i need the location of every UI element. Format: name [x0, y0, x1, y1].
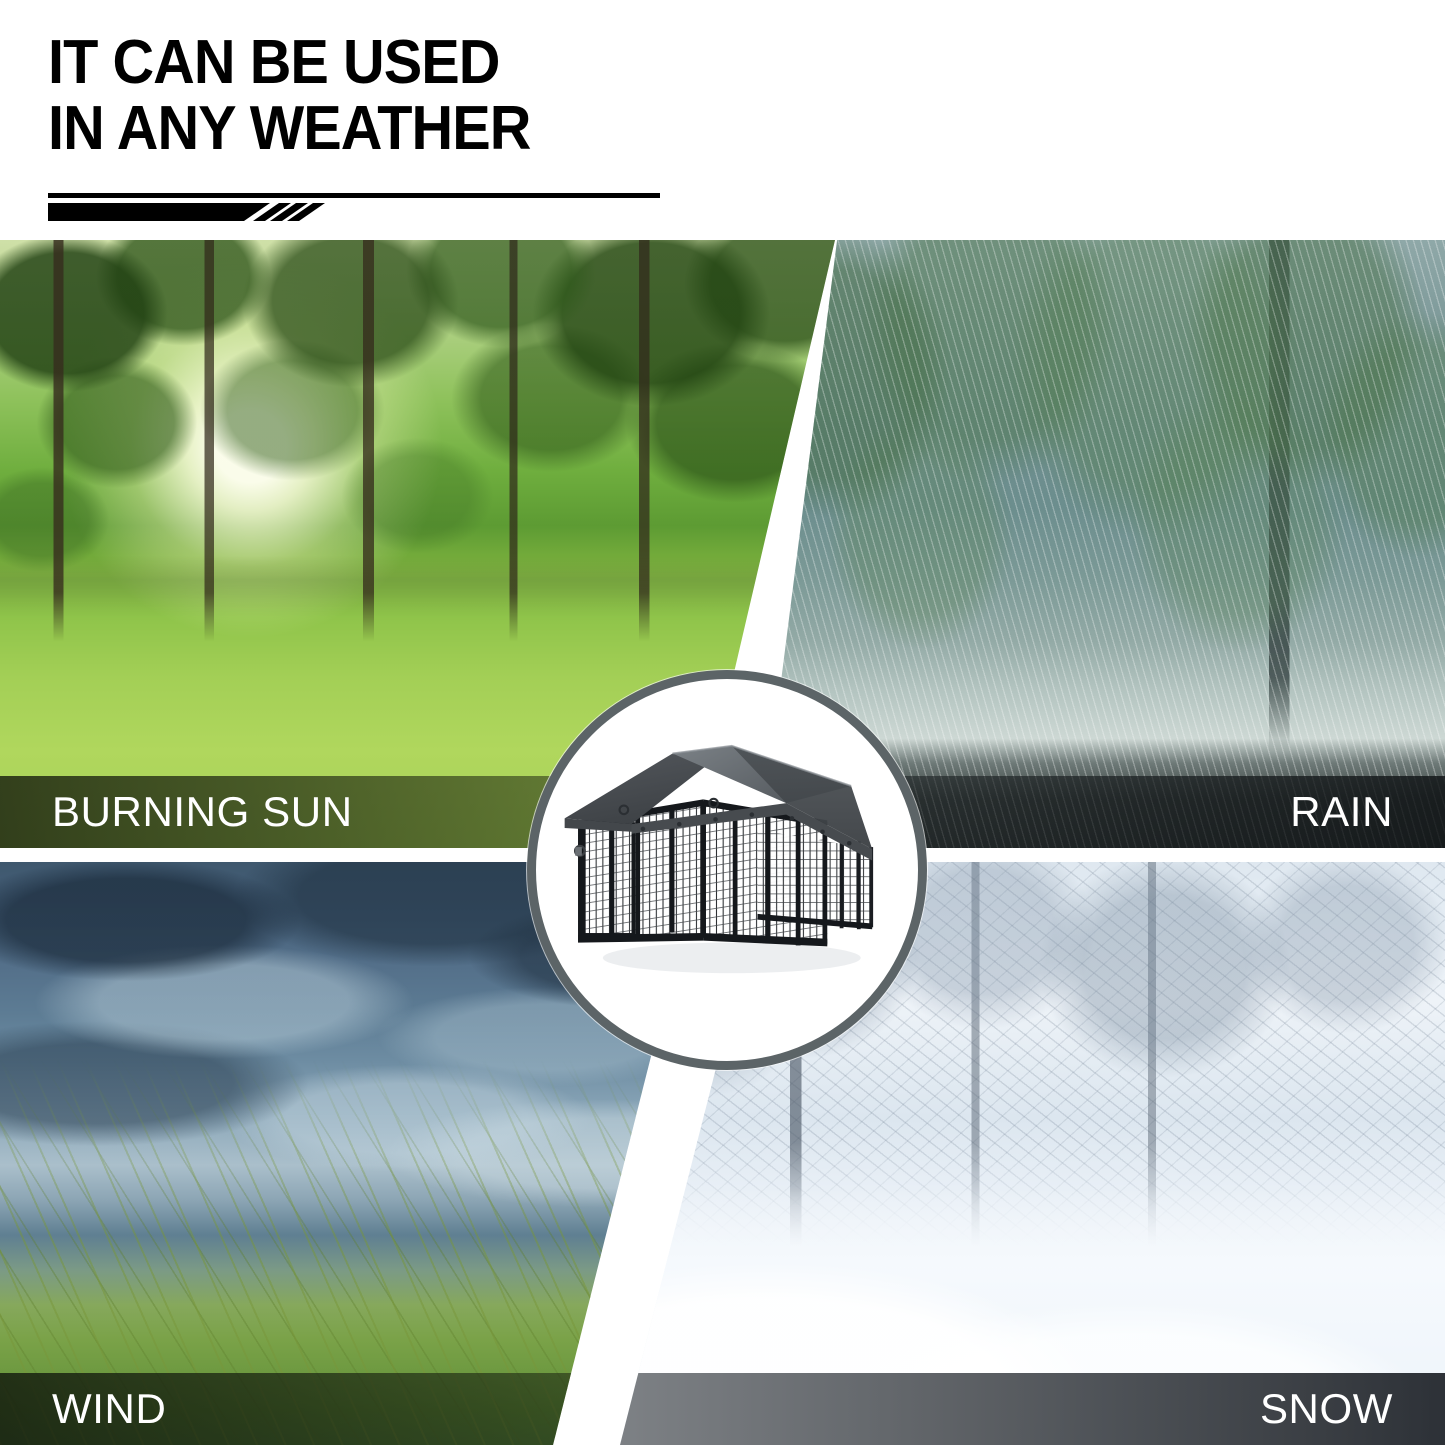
- caption-snow: SNOW: [620, 1373, 1445, 1445]
- panel-label: RAIN: [1290, 788, 1393, 836]
- product-callout-circle: [527, 670, 927, 1070]
- panel-label: BURNING SUN: [52, 788, 353, 836]
- caption-wind: WIND: [0, 1373, 700, 1445]
- panel-label: WIND: [52, 1385, 166, 1433]
- page-title: IT CAN BE USED IN ANY WEATHER: [48, 30, 530, 161]
- header: IT CAN BE USED IN ANY WEATHER: [0, 0, 1445, 240]
- angled-rule-divider-icon: [48, 193, 660, 223]
- dog-kennel-product-icon: [536, 679, 918, 1061]
- panel-label: SNOW: [1260, 1385, 1393, 1433]
